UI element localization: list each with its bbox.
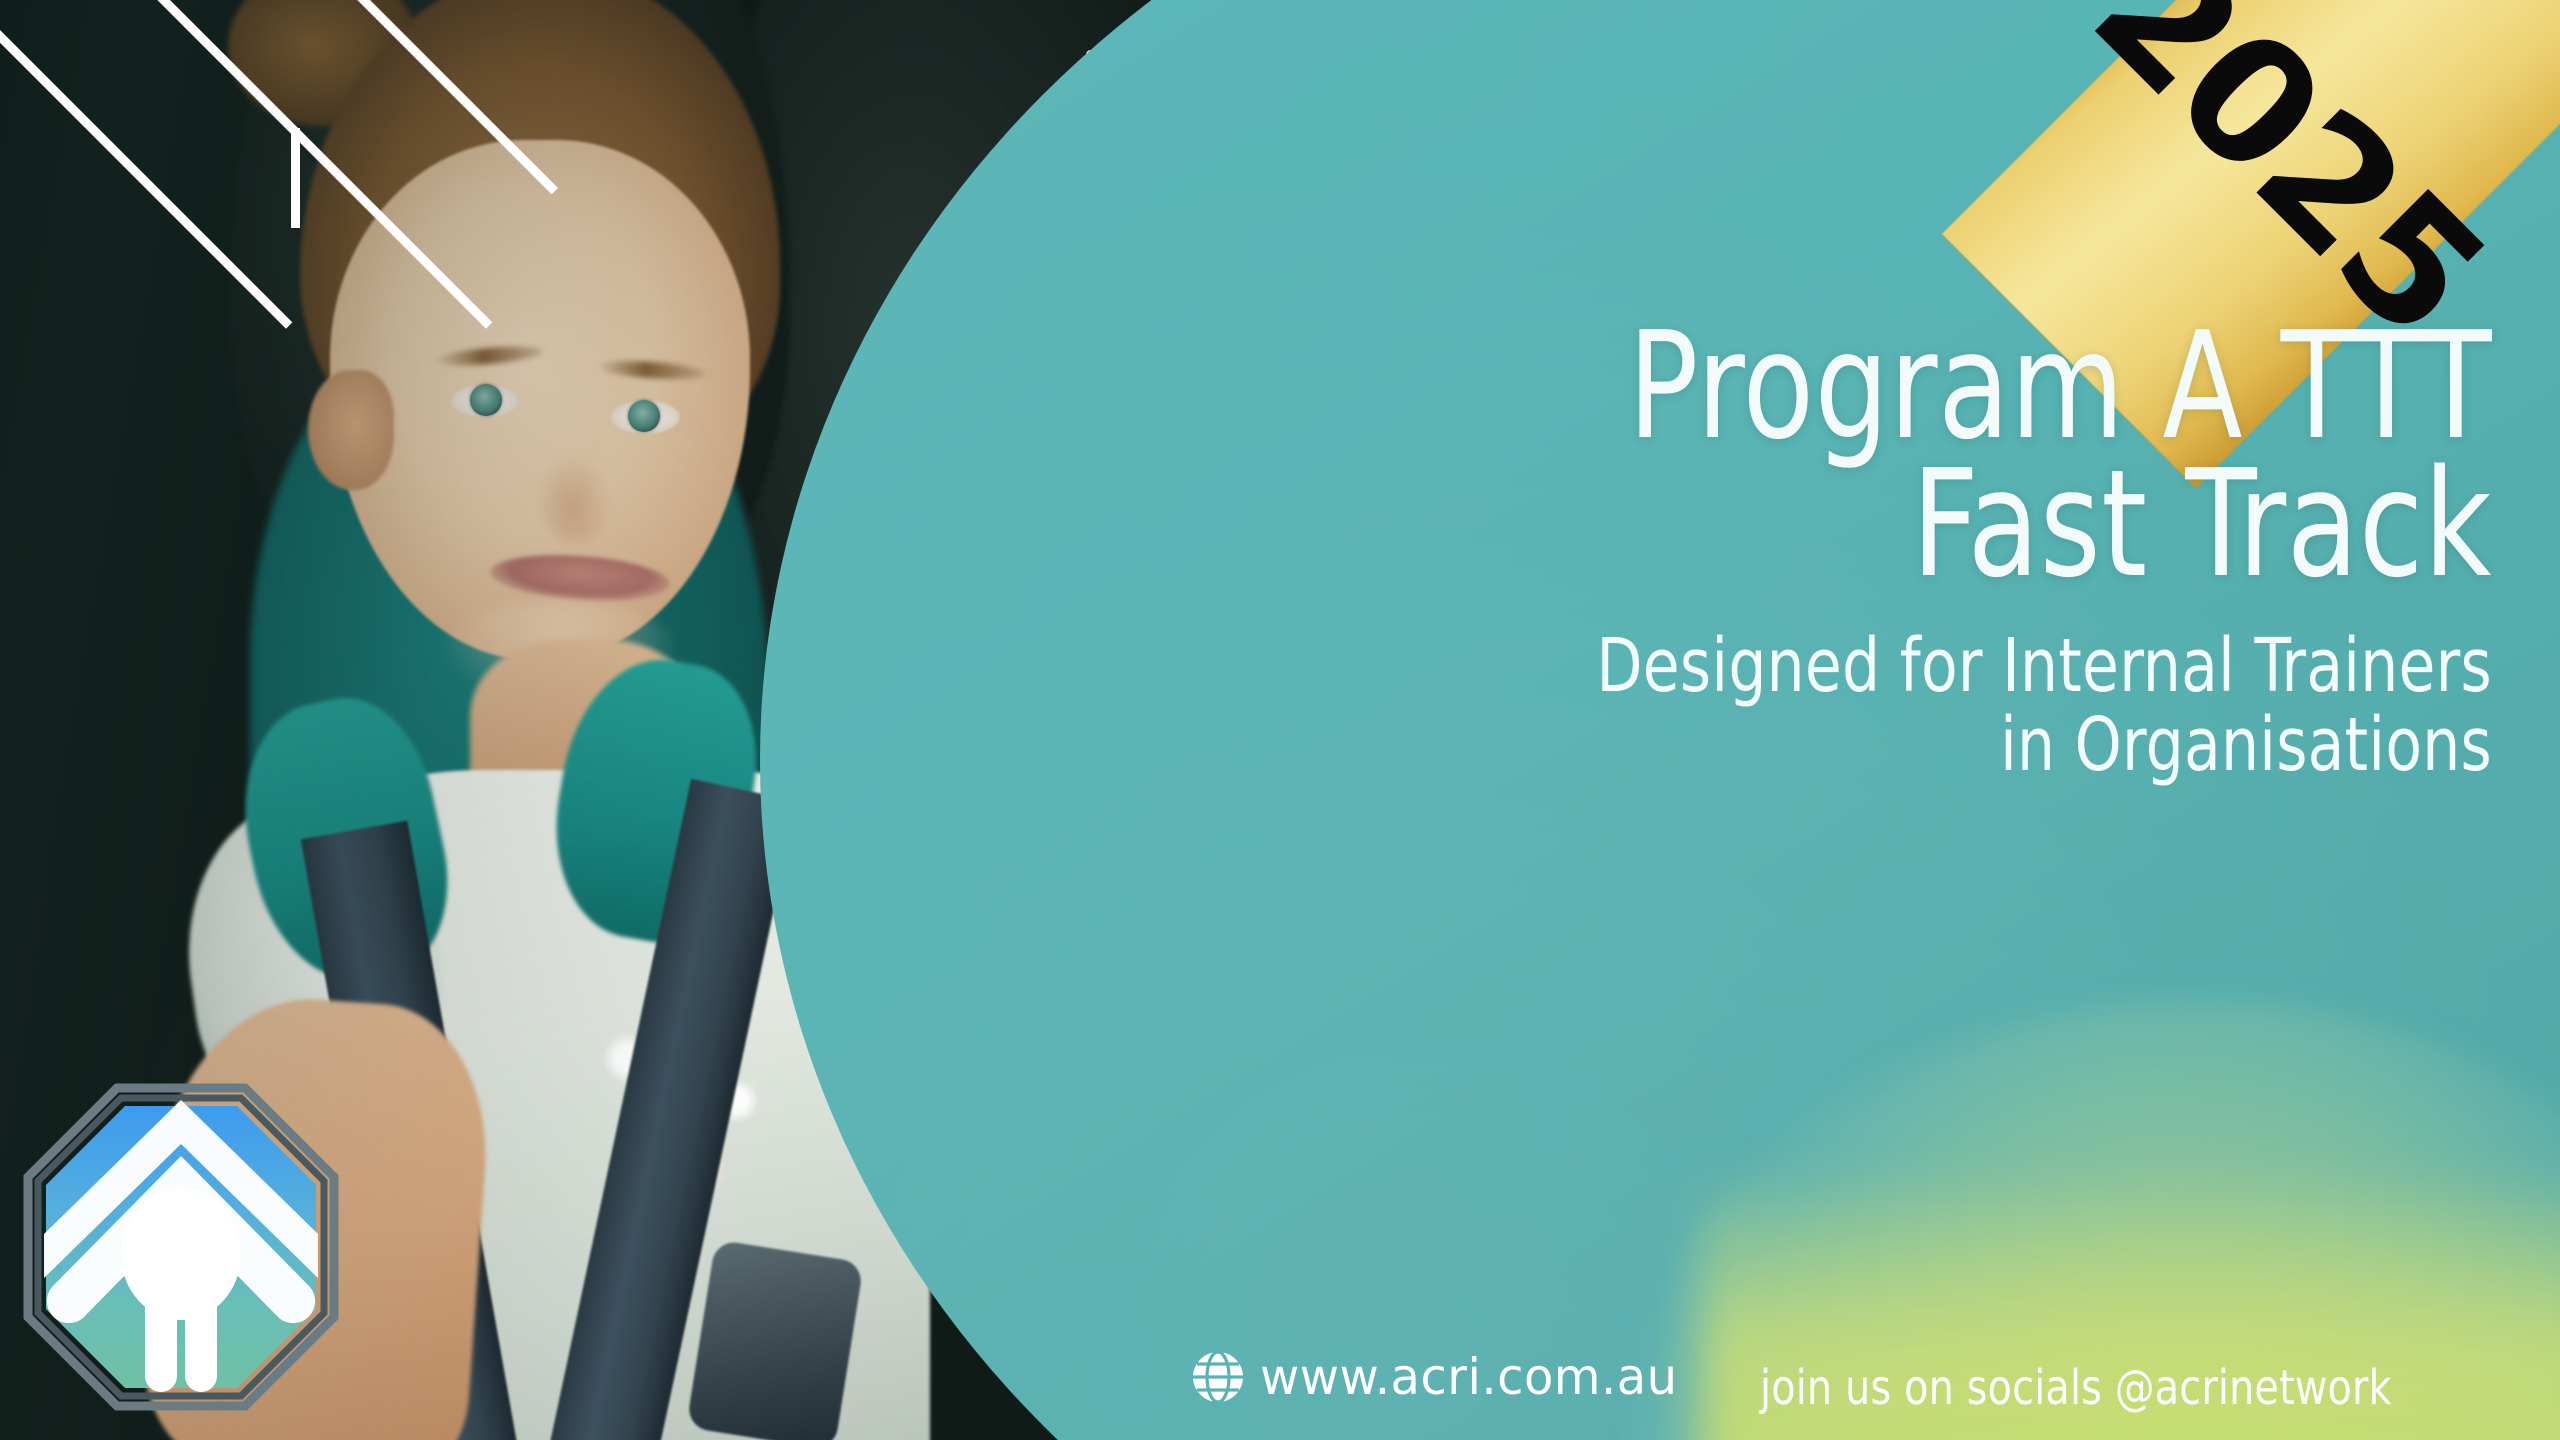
child-ear [308,370,394,490]
diagonal-line-joint [291,128,300,228]
subtitle-line-1: Designed for Internal Trainers [1214,627,2492,705]
promotional-banner: 2025 Program A TTT Fast Track Designed f… [0,0,2560,1440]
headline-line-1: Program A TTT [1242,318,2492,456]
website-url-label: www.acri.com.au [1260,1348,1678,1406]
headline-block: Program A TTT Fast Track Designed for In… [1072,318,2492,784]
subtitle-line-2: in Organisations [1214,706,2492,784]
globe-icon [1192,1351,1244,1403]
child-iris-right [628,400,660,432]
harness-buckle [686,1239,864,1440]
headline-line-2: Fast Track [1242,456,2492,594]
acri-logo-graphic [22,1082,340,1412]
child-iris-left [470,384,502,416]
socials-handle-label[interactable]: join us on socials @acrinetwork [1760,1360,2392,1416]
child-nose [540,452,614,544]
acri-logo[interactable] [22,1082,340,1412]
website-footer[interactable]: www.acri.com.au [1192,1348,1695,1406]
